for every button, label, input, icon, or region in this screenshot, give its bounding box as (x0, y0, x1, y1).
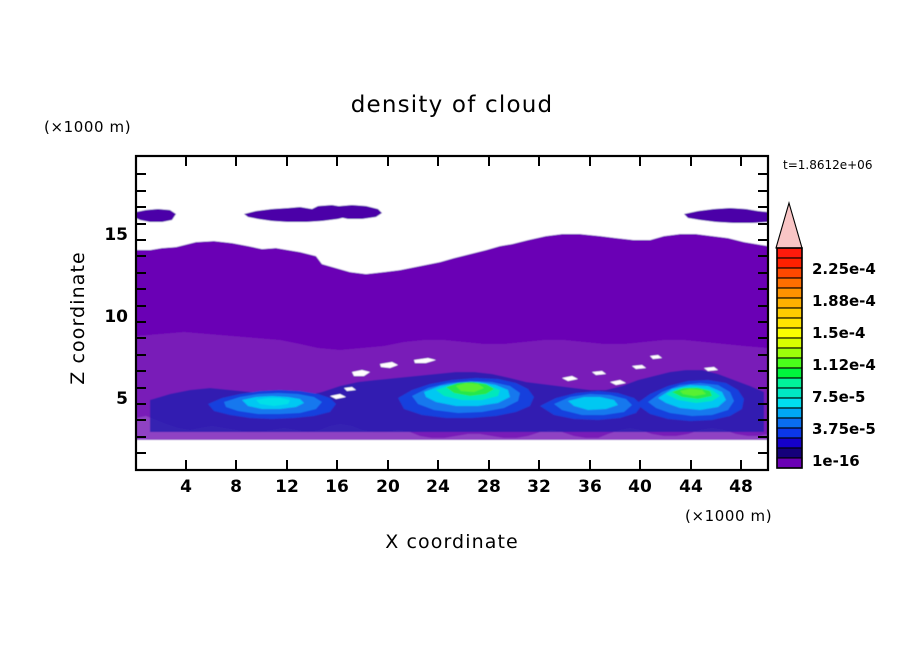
colorbar-tick-label: 2.25e-4 (812, 260, 876, 278)
colorbar-tick-label: 1.12e-4 (812, 356, 876, 374)
colorbar-band (777, 278, 802, 288)
colorbar-band (777, 408, 802, 418)
time-annotation: t=1.8612e+06 (783, 158, 872, 172)
colorbar-band (777, 258, 802, 268)
colorbar-band (777, 378, 802, 388)
x-tick-label: 16 (325, 477, 349, 497)
colorbar-band (777, 298, 802, 308)
colorbar-band (777, 428, 802, 438)
colorbar-band (777, 368, 802, 378)
colorbar-tick-label: 1.5e-4 (812, 324, 865, 342)
detached-patch-left (136, 209, 176, 222)
colorbar-tick-label: 1.88e-4 (812, 292, 876, 310)
colorbar-band (777, 388, 802, 398)
colorbar-band-lowest (777, 458, 802, 468)
colorbar-band (777, 318, 802, 328)
y-tick-label: 15 (104, 225, 128, 245)
x-tick-label: 40 (628, 477, 652, 497)
y-tick-label: 10 (104, 307, 128, 327)
x-tick-label: 32 (527, 477, 551, 497)
colorbar-tick-label: 3.75e-5 (812, 420, 876, 438)
contour-field (136, 156, 768, 470)
x-tick-label: 12 (275, 477, 299, 497)
colorbar-tick-label: 1e-16 (812, 452, 860, 470)
colorbar-band (777, 328, 802, 338)
colorbar-band (777, 448, 802, 458)
figure-title: density of cloud (351, 92, 554, 118)
x-axis-title: X coordinate (385, 531, 519, 553)
colorbar-band (777, 268, 802, 278)
colorbar-band (777, 358, 802, 368)
figure-canvas: density of cloud (×1000 m) (×1000 m) X c… (0, 0, 904, 654)
y-axis-unit-label: (×1000 m) (44, 118, 131, 136)
colorbar-band (777, 398, 802, 408)
x-tick-label: 24 (426, 477, 450, 497)
x-tick-label: 4 (180, 477, 192, 497)
x-tick-label: 28 (477, 477, 501, 497)
colorbar-band (777, 288, 802, 298)
colorbar-band (777, 348, 802, 358)
x-tick-label: 20 (376, 477, 400, 497)
colorbar-band (777, 438, 802, 448)
x-tick-label: 44 (679, 477, 703, 497)
x-tick-label: 36 (578, 477, 602, 497)
y-axis-title: Z coordinate (67, 251, 89, 385)
x-tick-label: 8 (230, 477, 242, 497)
contour-figure: density of cloud (×1000 m) (×1000 m) X c… (0, 0, 904, 654)
x-axis-unit-label: (×1000 m) (685, 507, 772, 525)
colorbar-band (777, 308, 802, 318)
colorbar-band (777, 418, 802, 428)
x-tick-label: 48 (729, 477, 753, 497)
colorbar-tick-label: 7.5e-5 (812, 388, 865, 406)
colorbar-band (777, 338, 802, 348)
y-tick-label: 5 (116, 389, 128, 409)
colorbar-band (777, 248, 802, 258)
